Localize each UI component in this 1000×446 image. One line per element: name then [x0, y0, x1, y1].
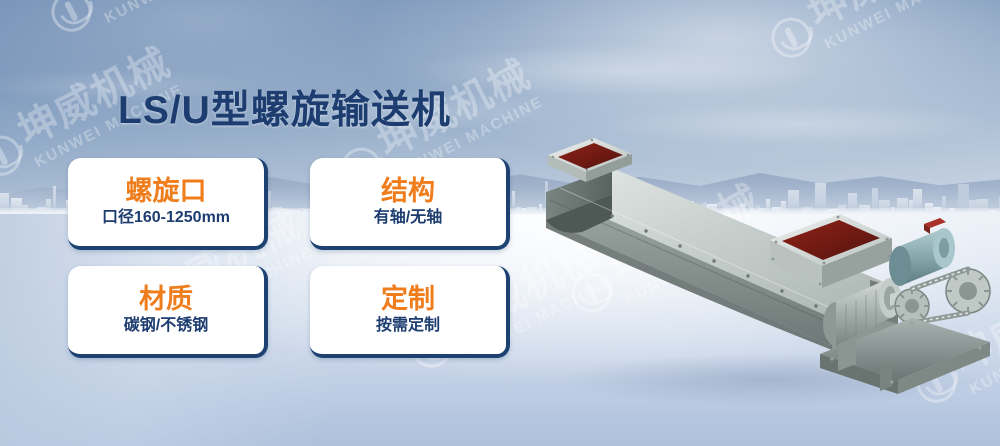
feature-title: 螺旋口 — [126, 177, 207, 207]
feature-subtitle: 口径160-1250mm — [102, 208, 230, 227]
feature-card-row: 材质 碳钢/不锈钢 定制 按需定制 — [68, 266, 528, 358]
product-banner: 坤威机械 KUNWEI MACHINE 坤威机械 KUNWEI MACHINE … — [0, 0, 1000, 446]
feature-card-grid: 螺旋口 口径160-1250mm 结构 有轴/无轴 材质 碳钢/不锈钢 定制 按… — [68, 158, 528, 358]
page-title: LS/U型螺旋输送机 — [118, 79, 451, 135]
feature-subtitle: 有轴/无轴 — [374, 208, 442, 227]
product-image-screw-conveyor — [520, 128, 1000, 413]
feature-subtitle: 按需定制 — [376, 316, 440, 335]
feature-title: 材质 — [139, 285, 193, 315]
feature-title: 定制 — [381, 285, 435, 315]
feature-card-material[interactable]: 材质 碳钢/不锈钢 — [68, 266, 268, 358]
feature-card-screw-opening[interactable]: 螺旋口 口径160-1250mm — [68, 158, 268, 250]
feature-card-row: 螺旋口 口径160-1250mm 结构 有轴/无轴 — [68, 158, 528, 250]
feature-card-customization[interactable]: 定制 按需定制 — [310, 266, 510, 358]
feature-title: 结构 — [381, 177, 435, 207]
feature-card-structure[interactable]: 结构 有轴/无轴 — [310, 158, 510, 250]
feature-subtitle: 碳钢/不锈钢 — [124, 316, 208, 335]
